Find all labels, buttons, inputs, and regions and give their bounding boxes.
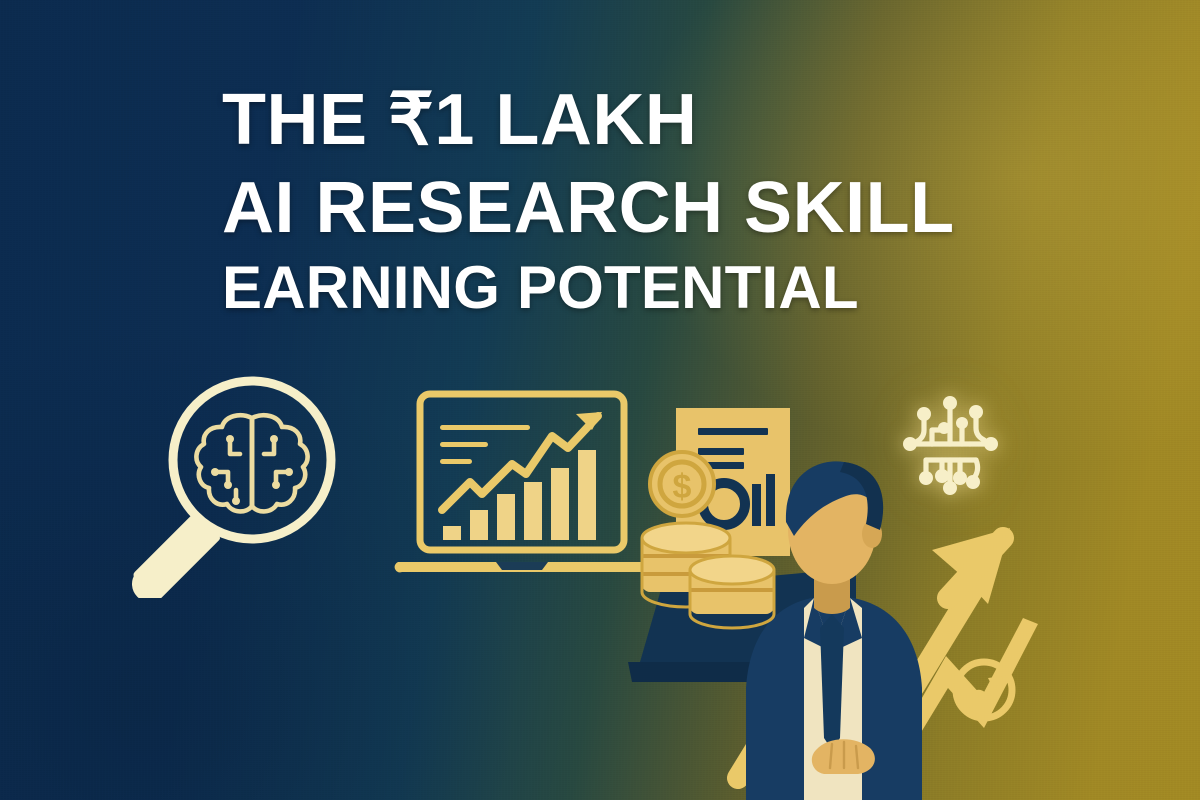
magnifier-brain-icon	[112, 372, 348, 598]
headline-line-2: AI RESEARCH SKILL	[222, 172, 1072, 244]
poster-canvas: THE ₹1 LAKH AI RESEARCH SKILL EARNING PO…	[0, 0, 1200, 800]
headline-line-1: THE ₹1 LAKH	[222, 84, 1072, 156]
businessman-scene: $	[618, 438, 1088, 800]
headline-block: THE ₹1 LAKH AI RESEARCH SKILL EARNING PO…	[222, 84, 1072, 318]
businessman-icon	[746, 461, 922, 800]
headline-line-3: EARNING POTENTIAL	[222, 258, 1072, 318]
laptop-chart-icon	[392, 388, 652, 588]
coin-currency-symbol: $	[673, 468, 692, 506]
